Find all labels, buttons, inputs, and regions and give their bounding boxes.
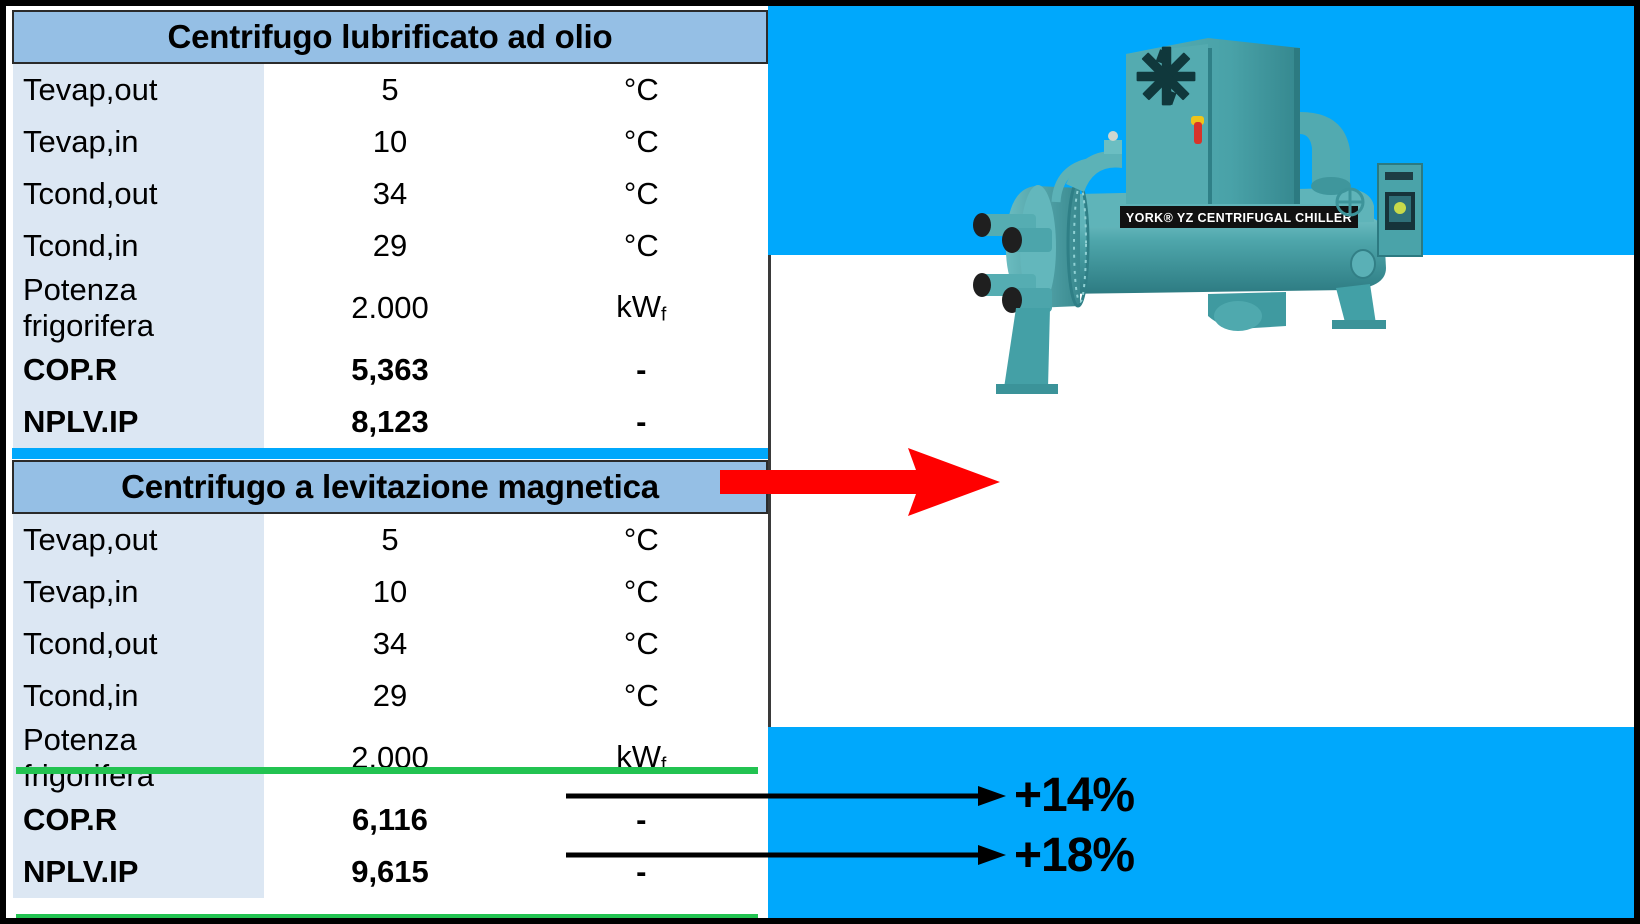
- table-row: COP.R 5,363 -: [13, 344, 767, 396]
- row-label: Tcond,in: [13, 220, 264, 272]
- unit-text: kW: [616, 289, 661, 324]
- table-row: Tevap,out 5 °C: [13, 513, 767, 566]
- row-label: Tevap,out: [13, 513, 264, 566]
- row-unit: kWf: [516, 272, 767, 344]
- row-label: Tcond,out: [13, 168, 264, 220]
- table-mag-title: Centrifugo a levitazione magnetica: [13, 461, 767, 513]
- row-value: 10: [264, 566, 515, 618]
- row-value: 5,363: [264, 344, 515, 396]
- table-row: Tcond,out 34 °C: [13, 168, 767, 220]
- chiller-nameplate: YORK® YZ CENTRIFUGAL CHILLER: [1120, 206, 1358, 228]
- row-unit: °C: [516, 220, 767, 272]
- row-value: 10: [264, 116, 515, 168]
- row-unit: -: [516, 396, 767, 448]
- row-label: COP.R: [13, 344, 264, 396]
- delta-cop-label: +14%: [1014, 768, 1134, 823]
- unit-subscript: f: [661, 305, 666, 326]
- row-value: 29: [264, 220, 515, 272]
- callout-arrow-nplv: [566, 842, 1006, 868]
- red-arrow-to-chiller: [720, 446, 1000, 518]
- row-value: 2.000: [264, 272, 515, 344]
- row-label: Potenza frigorifera: [13, 272, 264, 344]
- row-value: 5: [264, 513, 515, 566]
- row-unit: °C: [516, 116, 767, 168]
- table-row: Potenza frigorifera 2.000 kWf: [13, 272, 767, 344]
- row-value: 6,116: [264, 794, 515, 846]
- row-label: Tevap,in: [13, 566, 264, 618]
- row-label: NPLV.IP: [13, 396, 264, 448]
- table-row: Tcond,out 34 °C: [13, 618, 767, 670]
- table-centrifugo-lubrificato-ad-olio: Centrifugo lubrificato ad olio Tevap,out…: [12, 10, 768, 448]
- table-row: NPLV.IP 8,123 -: [13, 396, 767, 448]
- row-unit: -: [516, 344, 767, 396]
- table-centrifugo-a-levitazione-magnetica: Centrifugo a levitazione magnetica Tevap…: [12, 460, 768, 898]
- table-row: Tcond,in 29 °C: [13, 670, 767, 722]
- row-label: Tevap,in: [13, 116, 264, 168]
- callout-arrow-copr: [566, 783, 1006, 809]
- green-highlight-line-top: [16, 767, 758, 774]
- chiller-illustration: YORK® YZ CENTRIFUGAL CHILLER: [908, 16, 1428, 416]
- table-mag-body: Tevap,out 5 °C Tevap,in 10 °C Tcond,out …: [13, 513, 767, 898]
- row-label: Tevap,out: [13, 63, 264, 116]
- table-row: Tevap,in 10 °C: [13, 566, 767, 618]
- row-label: Tcond,in: [13, 670, 264, 722]
- row-label: Tcond,out: [13, 618, 264, 670]
- row-unit: °C: [516, 168, 767, 220]
- row-label: NPLV.IP: [13, 846, 264, 898]
- delta-nplv-label: +18%: [1014, 828, 1134, 883]
- table-row: Tevap,out 5 °C: [13, 63, 767, 116]
- row-unit: °C: [516, 618, 767, 670]
- slide-canvas: YORK® YZ CENTRIFUGAL CHILLER: [0, 0, 1640, 924]
- blue-band-bottom: [768, 727, 1640, 918]
- row-unit: °C: [516, 513, 767, 566]
- row-unit: °C: [516, 63, 767, 116]
- row-unit: °C: [516, 566, 767, 618]
- row-value: 9,615: [264, 846, 515, 898]
- row-value: 8,123: [264, 396, 515, 448]
- table-oil-title: Centrifugo lubrificato ad olio: [13, 11, 767, 63]
- row-unit: °C: [516, 670, 767, 722]
- row-label: Potenza frigorifera: [13, 722, 264, 794]
- row-value: 34: [264, 168, 515, 220]
- svg-text:YORK® YZ CENTRIFUGAL CHILLER: YORK® YZ CENTRIFUGAL CHILLER: [1126, 211, 1352, 225]
- row-value: 34: [264, 618, 515, 670]
- row-value: 2.000: [264, 722, 515, 794]
- table-row: Tcond,in 29 °C: [13, 220, 767, 272]
- row-label: COP.R: [13, 794, 264, 846]
- table-row: Tevap,in 10 °C: [13, 116, 767, 168]
- row-value: 29: [264, 670, 515, 722]
- table-oil-body: Tevap,out 5 °C Tevap,in 10 °C Tcond,out …: [13, 63, 767, 448]
- green-highlight-line-bottom: [16, 914, 758, 921]
- row-value: 5: [264, 63, 515, 116]
